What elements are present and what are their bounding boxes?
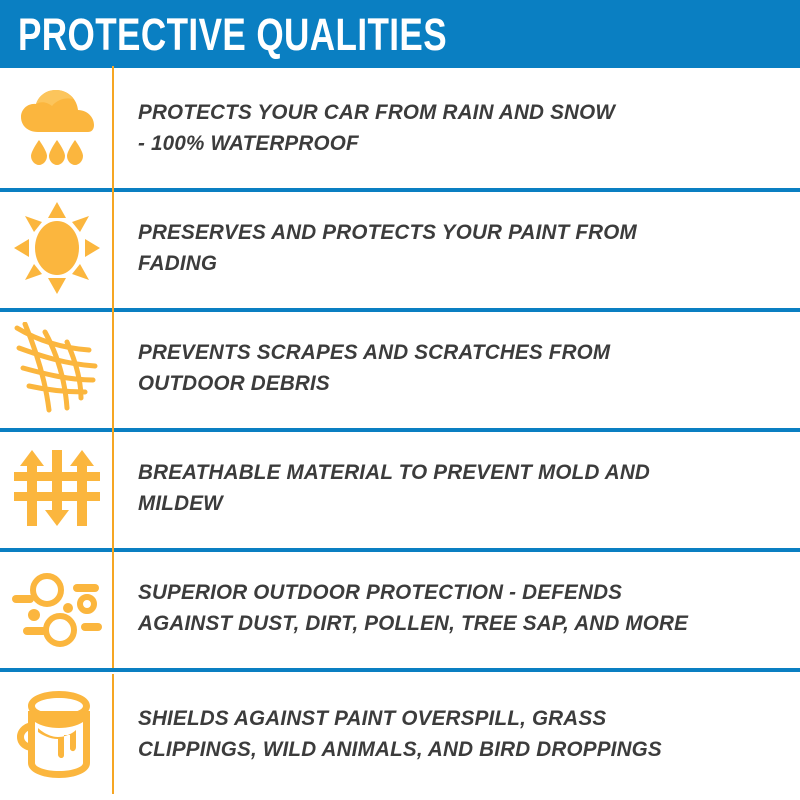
dust-particles-icon	[11, 568, 103, 648]
feature-text-3: PREVENTS SCRAPES AND SCRATCHES FROM OUTD…	[138, 337, 756, 399]
icon-cell-6	[0, 674, 113, 794]
column-divider-2	[112, 188, 114, 308]
feature-line: BREATHABLE MATERIAL TO PREVENT MOLD AND	[138, 457, 756, 488]
feature-line: - 100% WATERPROOF	[138, 128, 756, 159]
feature-text-5: SUPERIOR OUTDOOR PROTECTION - DEFENDS AG…	[138, 577, 756, 639]
column-divider-5	[112, 548, 114, 668]
text-cell-1: PROTECTS YOUR CAR FROM RAIN AND SNOW - 1…	[113, 97, 800, 159]
feature-row-4: BREATHABLE MATERIAL TO PREVENT MOLD AND …	[0, 428, 800, 548]
feature-line: PREVENTS SCRAPES AND SCRATCHES FROM	[138, 337, 756, 368]
feature-row-2: PRESERVES AND PROTECTS YOUR PAINT FROM F…	[0, 188, 800, 308]
text-cell-2: PRESERVES AND PROTECTS YOUR PAINT FROM F…	[113, 217, 800, 279]
icon-cell-4	[0, 428, 113, 548]
feature-line: CLIPPINGS, WILD ANIMALS, AND BIRD DROPPI…	[138, 734, 756, 765]
icon-cell-1	[0, 68, 113, 188]
row-divider-6	[0, 668, 800, 672]
feature-row-1: PROTECTS YOUR CAR FROM RAIN AND SNOW - 1…	[0, 68, 800, 188]
header-banner: PROTECTIVE QUALITIES	[0, 0, 800, 68]
text-cell-3: PREVENTS SCRAPES AND SCRATCHES FROM OUTD…	[113, 337, 800, 399]
column-divider-6	[112, 674, 114, 794]
feature-line: SUPERIOR OUTDOOR PROTECTION - DEFENDS	[138, 577, 756, 608]
feature-list: PROTECTS YOUR CAR FROM RAIN AND SNOW - 1…	[0, 68, 800, 800]
page-title: PROTECTIVE QUALITIES	[18, 12, 447, 57]
feature-line: MILDEW	[138, 488, 756, 519]
infographic-page: PROTECTIVE QUALITIES PROTECT	[0, 0, 800, 800]
text-cell-4: BREATHABLE MATERIAL TO PREVENT MOLD AND …	[113, 457, 800, 519]
feature-line: PRESERVES AND PROTECTS YOUR PAINT FROM	[138, 217, 756, 248]
icon-cell-3	[0, 308, 113, 428]
sun-icon	[14, 202, 100, 294]
feature-line: FADING	[138, 248, 756, 279]
icon-cell-2	[0, 188, 113, 308]
column-divider-3	[112, 308, 114, 428]
breathable-airflow-icon	[14, 444, 100, 532]
feature-text-1: PROTECTS YOUR CAR FROM RAIN AND SNOW - 1…	[138, 97, 756, 159]
column-divider-1	[112, 66, 114, 188]
feature-text-4: BREATHABLE MATERIAL TO PREVENT MOLD AND …	[138, 457, 756, 519]
row-divider-4	[0, 428, 800, 432]
feature-line: PROTECTS YOUR CAR FROM RAIN AND SNOW	[138, 97, 756, 128]
feature-row-3: PREVENTS SCRAPES AND SCRATCHES FROM OUTD…	[0, 308, 800, 428]
rain-cloud-icon	[15, 88, 99, 168]
feature-line: AGAINST DUST, DIRT, POLLEN, TREE SAP, AN…	[138, 608, 756, 639]
row-divider-3	[0, 308, 800, 312]
text-cell-5: SUPERIOR OUTDOOR PROTECTION - DEFENDS AG…	[113, 577, 800, 639]
row-divider-5	[0, 548, 800, 552]
paint-can-icon	[14, 689, 100, 779]
feature-text-6: SHIELDS AGAINST PAINT OVERSPILL, GRASS C…	[138, 703, 756, 765]
feature-row-5: SUPERIOR OUTDOOR PROTECTION - DEFENDS AG…	[0, 548, 800, 668]
feature-line: OUTDOOR DEBRIS	[138, 368, 756, 399]
feature-text-2: PRESERVES AND PROTECTS YOUR PAINT FROM F…	[138, 217, 756, 279]
feature-row-6: SHIELDS AGAINST PAINT OVERSPILL, GRASS C…	[0, 668, 800, 800]
column-divider-4	[112, 428, 114, 548]
icon-cell-5	[0, 548, 113, 668]
scratches-icon	[13, 322, 101, 414]
feature-line: SHIELDS AGAINST PAINT OVERSPILL, GRASS	[138, 703, 756, 734]
text-cell-6: SHIELDS AGAINST PAINT OVERSPILL, GRASS C…	[113, 703, 800, 765]
row-divider-2	[0, 188, 800, 192]
